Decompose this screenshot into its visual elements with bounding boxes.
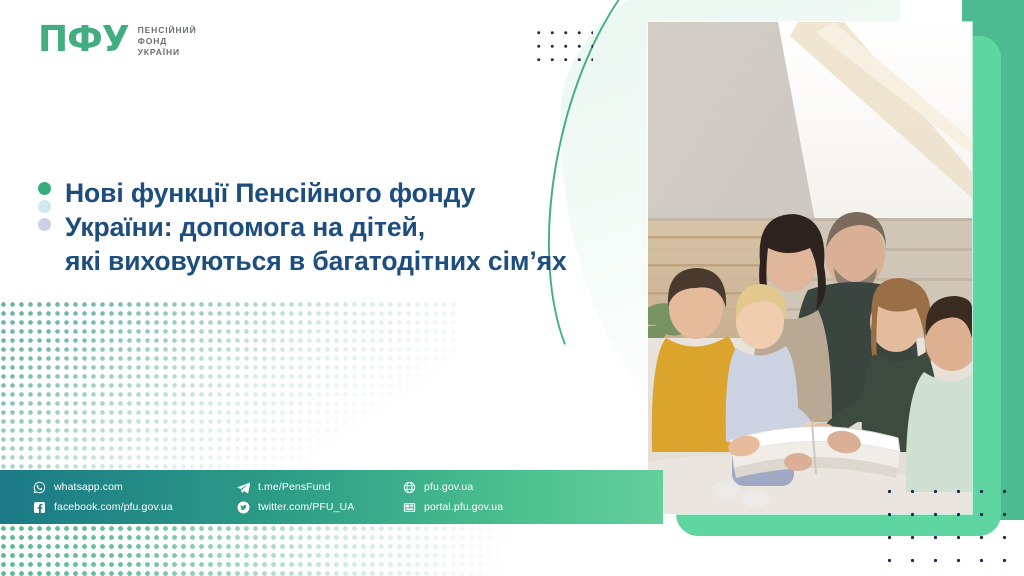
footer-link-website[interactable]: pfu.gov.ua (403, 481, 503, 494)
footer-link-label: portal.pfu.gov.ua (424, 501, 503, 513)
family-photo (648, 22, 972, 514)
facebook-icon (33, 501, 46, 514)
headline-line-3: які виховуються в багатодітних сім’ях (65, 244, 567, 278)
footer-column-1: whatsapp.com facebook.com/pfu.gov.ua (33, 481, 237, 514)
footer-column-2: t.me/PensFund twitter.com/PFU_UA (237, 481, 403, 514)
headline-bullet-dots (38, 176, 51, 278)
slide-canvas: ПФУ ПЕНСІЙНИЙ ФОНД УКРАЇНИ Нові функції … (0, 0, 1024, 576)
headline-block: Нові функції Пенсійного фонду України: д… (38, 176, 567, 278)
dot-grid-bottom-right-icon (874, 476, 1024, 576)
footer-column-3: pfu.gov.ua portal.pfu.gov.ua (403, 481, 503, 514)
bullet-dot-light-blue-icon (38, 200, 51, 213)
telegram-icon (237, 481, 250, 494)
bullet-dot-light-purple-icon (38, 218, 51, 231)
footer-link-facebook[interactable]: facebook.com/pfu.gov.ua (33, 501, 237, 514)
footer-link-label: facebook.com/pfu.gov.ua (54, 501, 173, 513)
logo-wordmark: ПЕНСІЙНИЙ ФОНД УКРАЇНИ (138, 24, 197, 57)
headline-line-1: Нові функції Пенсійного фонду (65, 176, 567, 210)
logo-word-line-1: ПЕНСІЙНИЙ (138, 26, 197, 35)
footer-link-label: pfu.gov.ua (424, 481, 473, 493)
footer-link-whatsapp[interactable]: whatsapp.com (33, 481, 237, 494)
halftone-pattern-bottom (0, 524, 550, 576)
footer-link-twitter[interactable]: twitter.com/PFU_UA (237, 501, 403, 514)
contact-footer-bar: whatsapp.com facebook.com/pfu.gov.ua t.m… (0, 470, 663, 524)
logo-word-line-3: УКРАЇНИ (138, 48, 197, 57)
portal-icon (403, 501, 416, 514)
footer-link-label: twitter.com/PFU_UA (258, 501, 354, 513)
bullet-dot-green-icon (38, 182, 51, 195)
globe-icon (403, 481, 416, 494)
page-title: Нові функції Пенсійного фонду України: д… (65, 176, 567, 278)
footer-link-portal[interactable]: portal.pfu.gov.ua (403, 501, 503, 514)
whatsapp-icon (33, 481, 46, 494)
footer-link-label: whatsapp.com (54, 481, 123, 493)
twitter-icon (237, 501, 250, 514)
footer-link-telegram[interactable]: t.me/PensFund (237, 481, 403, 494)
headline-line-2: України: допомога на дітей, (65, 210, 567, 244)
pfu-logo[interactable]: ПФУ ПЕНСІЙНИЙ ФОНД УКРАЇНИ (38, 22, 197, 58)
logo-monogram: ПФУ (38, 22, 129, 58)
dot-grid-top-icon (531, 25, 593, 61)
halftone-pattern-left (0, 300, 460, 475)
footer-link-label: t.me/PensFund (258, 481, 331, 493)
logo-word-line-2: ФОНД (138, 37, 197, 46)
